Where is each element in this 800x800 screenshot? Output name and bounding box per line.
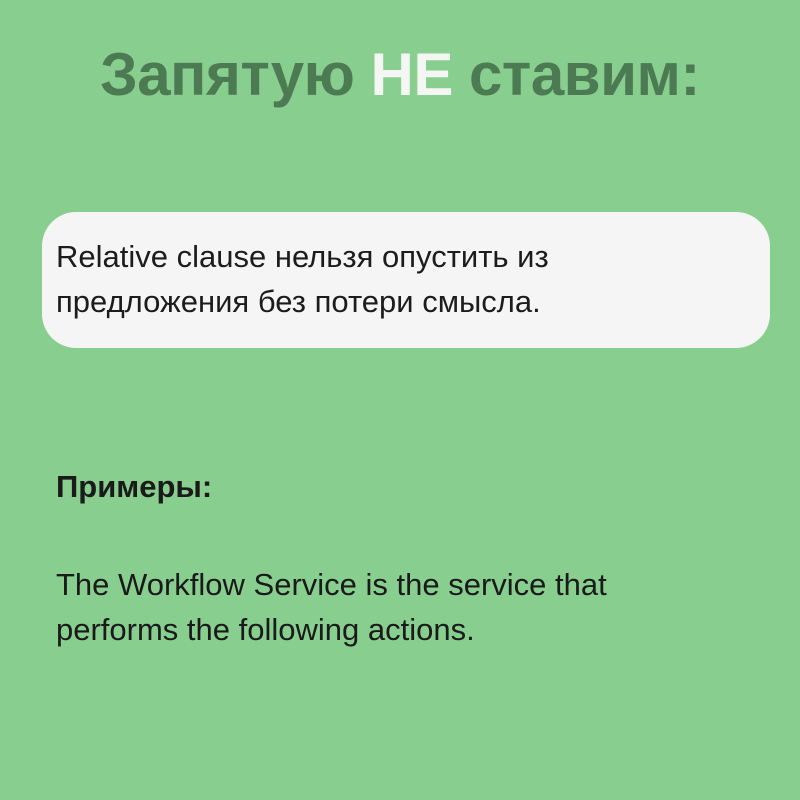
slide-canvas: Запятую НЕ ставим: Relative clause нельз… [0,0,800,800]
example-text: The Workflow Service is the service that… [56,562,607,652]
page-title-prefix: Запятую [100,41,370,108]
page-title-suffix: ставим: [453,41,700,108]
rule-card-line-2: предложения без потери смысла. [56,279,740,324]
rule-card-line-1: Relative clause нельзя опустить из [56,234,740,279]
page-title-emphasis: НЕ [371,41,453,108]
rule-card: Relative clause нельзя опустить из предл… [42,212,770,348]
example-line-2: performs the following actions. [56,607,607,652]
example-line-1: The Workflow Service is the service that [56,562,607,607]
rule-card-text: Relative clause нельзя опустить из предл… [56,234,740,324]
examples-heading: Примеры: [56,468,212,506]
page-title: Запятую НЕ ставим: [0,42,800,108]
